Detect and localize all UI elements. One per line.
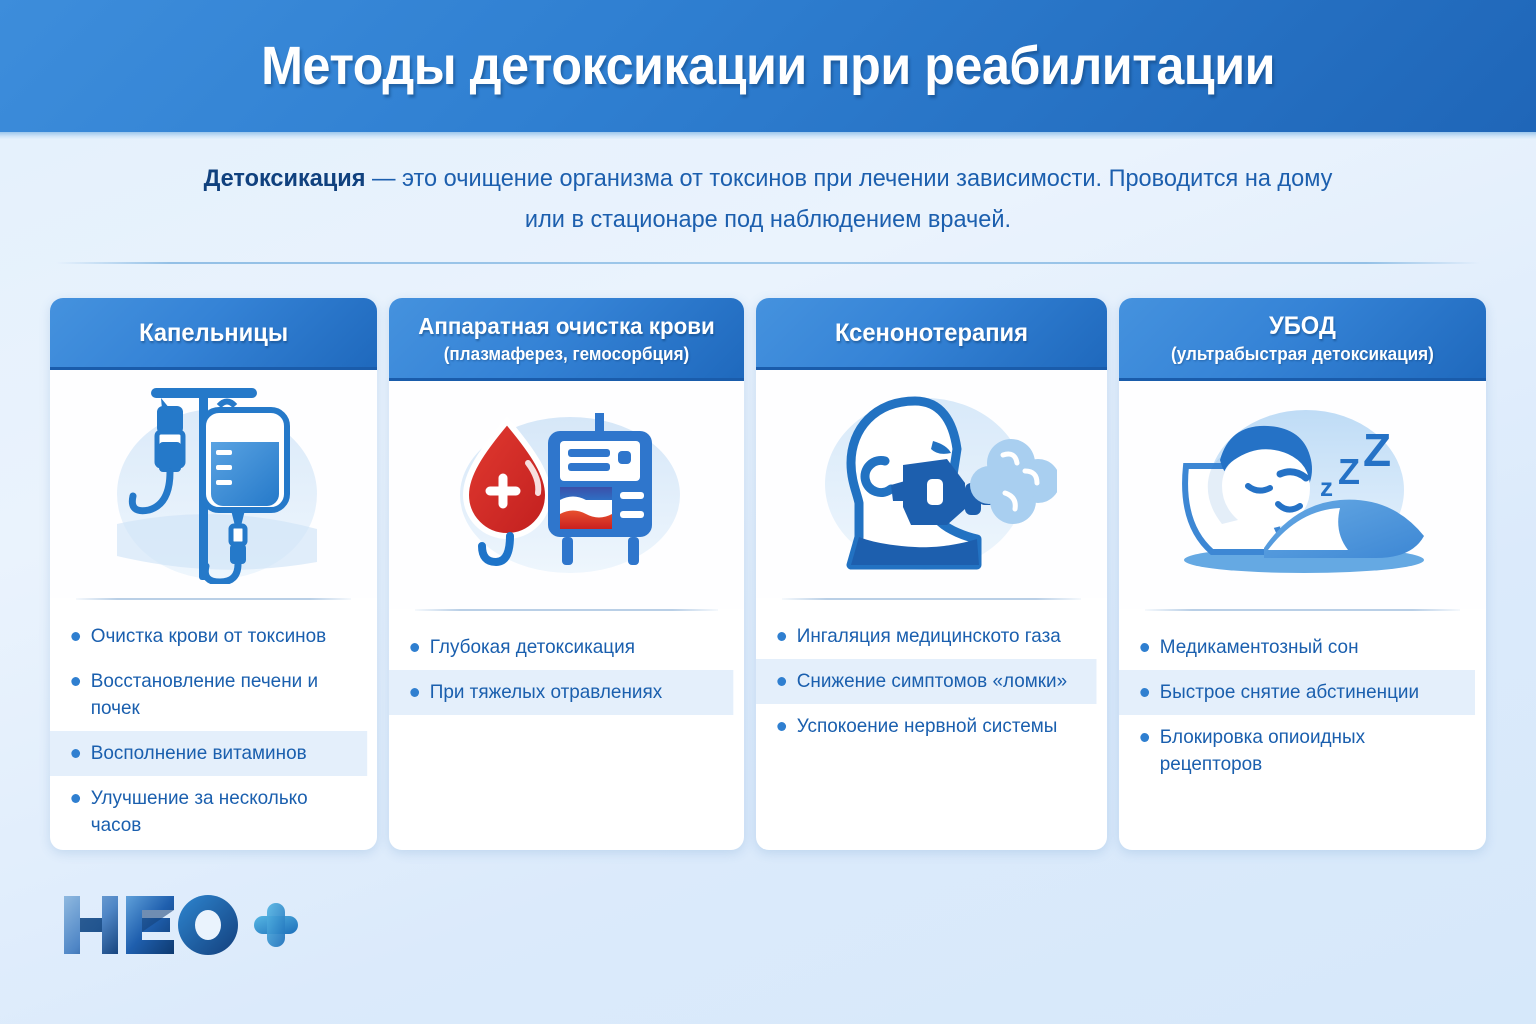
subtitle-text: Детоксикация — это очищение организма от…	[194, 158, 1342, 240]
page-title: Методы детоксикации при реабилитации	[261, 35, 1275, 97]
list-item: Восстановление печени и почек	[50, 659, 367, 731]
list-item: Восполнение витаминов	[50, 731, 367, 776]
card-header-xenon-therapy: Ксенонотерапия	[756, 298, 1107, 370]
list-item: Глубокая детоксикация	[389, 625, 733, 670]
bullet-text: Восстановление печени и почек	[91, 668, 346, 722]
card-bullets: Медикаментозный сон Быстрое снятие абсти…	[1119, 611, 1486, 850]
bullet-text: При тяжелых отравлениях	[430, 679, 662, 706]
bullet-dot-icon	[71, 677, 80, 686]
list-item: Ингаляция медицинското газа	[756, 614, 1096, 659]
card-title: Ксенонотерапия	[774, 318, 1088, 348]
method-card-ubod[interactable]: УБОД (ультрабыстрая детоксикация)	[1119, 298, 1486, 850]
bullet-text: Быстрое снятие абстиненции	[1160, 679, 1419, 706]
page-header-band: Методы детоксикации при реабилитации	[0, 0, 1536, 132]
bullet-dot-icon	[71, 632, 80, 641]
subtitle-rest-text: — это очищение организма от токсинов при…	[365, 165, 1332, 233]
oxygen-mask-head-icon	[756, 370, 1107, 598]
card-bullets: Ингаляция медицинското газа Снижение сим…	[756, 600, 1107, 850]
card-bullets: Очистка крови от токсинов Восстановление…	[50, 600, 377, 850]
svg-text:z: z	[1320, 472, 1333, 502]
sleeping-patient-icon: z Z Z	[1119, 381, 1486, 609]
bullet-text: Очистка крови от токсинов	[91, 623, 326, 650]
card-header-drip: Капельницы	[50, 298, 377, 370]
iv-drip-icon	[50, 370, 377, 598]
bullet-dot-icon	[777, 677, 786, 686]
blood-purification-machine-icon	[389, 381, 744, 609]
list-item: Улучшение за несколько часов	[50, 776, 367, 848]
method-card-drip[interactable]: Капельницы	[50, 298, 377, 850]
brand-logo[interactable]	[58, 888, 298, 962]
card-subtitle: (ультрабыстрая детоксикация)	[1138, 342, 1468, 366]
method-card-xenon-therapy[interactable]: Ксенонотерапия	[756, 298, 1107, 850]
card-title: Аппаратная очистка крови	[408, 311, 726, 341]
bullet-dot-icon	[777, 632, 786, 641]
section-divider	[56, 262, 1480, 264]
list-item: При тяжелых отравлениях	[389, 670, 733, 715]
subtitle-block: Детоксикация — это очищение организма от…	[0, 158, 1536, 240]
svg-text:Z: Z	[1363, 424, 1391, 476]
bullet-text: Снижение симптомов «ломки»	[797, 668, 1067, 695]
card-bullets: Глубокая детоксикация При тяжелых отравл…	[389, 611, 744, 850]
bullet-dot-icon	[71, 749, 80, 758]
bullet-dot-icon	[1140, 733, 1149, 742]
bullet-text: Восполнение витаминов	[91, 740, 307, 767]
bullet-text: Ингаляция медицинското газа	[797, 623, 1061, 650]
subtitle-lead-word: Детоксикация	[204, 165, 366, 192]
card-header-ubod: УБОД (ультрабыстрая детоксикация)	[1119, 298, 1486, 381]
bullet-text: Блокировка опиоидных рецепторов	[1160, 724, 1454, 778]
bullet-text: Улучшение за несколько часов	[91, 785, 346, 839]
bullet-dot-icon	[411, 688, 420, 697]
bullet-text: Глубокая детоксикация	[430, 634, 635, 661]
card-title: Капельницы	[68, 318, 360, 348]
list-item: Блокировка опиоидных рецепторов	[1119, 715, 1475, 787]
list-item: Очистка крови от токсинов	[50, 614, 367, 659]
card-title: УБОД	[1138, 311, 1468, 341]
bullet-dot-icon	[71, 794, 80, 803]
card-header-blood-purification: Аппаратная очистка крови (плазмаферез, г…	[389, 298, 744, 381]
list-item: Медикаментозный сон	[1119, 625, 1475, 670]
bullet-dot-icon	[1140, 643, 1149, 652]
list-item: Быстрое снятие абстиненции	[1119, 670, 1475, 715]
neo-plus-logo-icon	[58, 888, 298, 962]
bullet-text: Успокоение нервной системы	[797, 713, 1058, 740]
list-item: Успокоение нервной системы	[756, 704, 1096, 749]
bullet-dot-icon	[411, 643, 420, 652]
svg-text:Z: Z	[1338, 451, 1360, 492]
bullet-dot-icon	[1140, 688, 1149, 697]
bullet-text: Медикаментозный сон	[1160, 634, 1359, 661]
card-subtitle: (плазмаферез, гемосорбция)	[408, 342, 726, 366]
list-item: Снижение симптомов «ломки»	[756, 659, 1096, 704]
method-card-blood-purification[interactable]: Аппаратная очистка крови (плазмаферез, г…	[389, 298, 744, 850]
bullet-dot-icon	[777, 722, 786, 731]
method-cards-row: Капельницы	[50, 298, 1486, 850]
